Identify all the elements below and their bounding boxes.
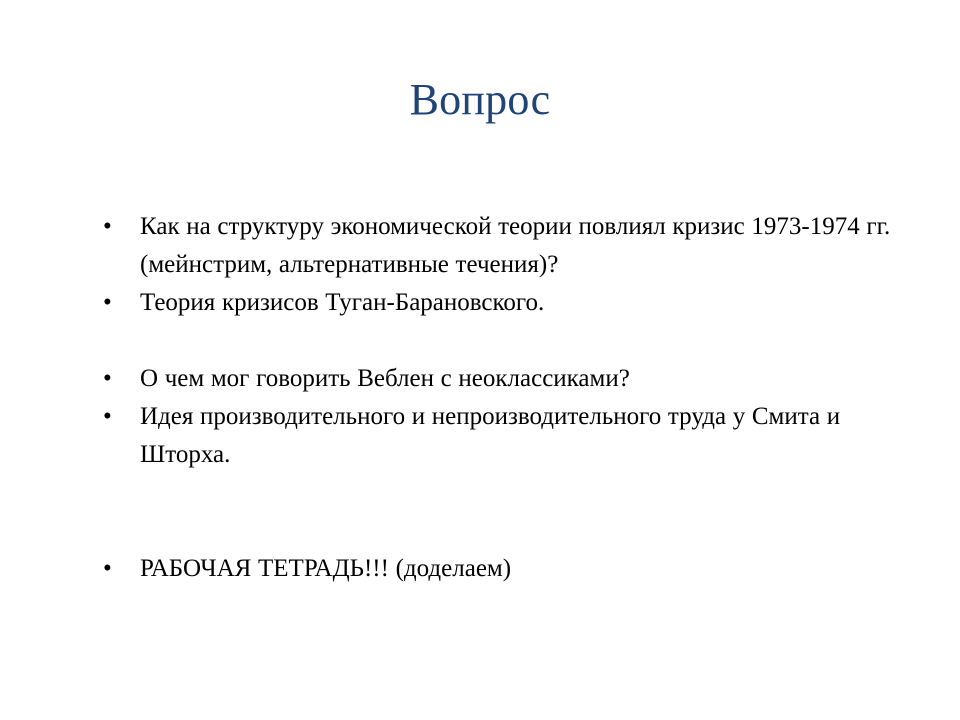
bullet-point-icon: • bbox=[96, 360, 140, 398]
slide-canvas: Вопрос • Как на структуру экономической … bbox=[0, 0, 960, 720]
list-item-text: О чем мог говорить Веблен с неоклассикам… bbox=[140, 360, 908, 398]
bullet-point-icon: • bbox=[96, 398, 140, 436]
slide-body-content: • Как на структуру экономической теории … bbox=[96, 208, 908, 588]
bullet-point-icon: • bbox=[96, 550, 140, 588]
list-item-text: Идея производительного и непроизводитель… bbox=[140, 398, 908, 474]
list-item: • РАБОЧАЯ ТЕТРАДЬ!!! (доделаем) bbox=[96, 550, 908, 588]
bullet-point-icon: • bbox=[96, 284, 140, 322]
list-item-text: Теория кризисов Туган-Барановского. bbox=[140, 284, 908, 322]
list-item: • Идея производительного и непроизводите… bbox=[96, 398, 908, 474]
blank-line-spacer bbox=[96, 322, 908, 360]
blank-line-spacer bbox=[96, 474, 908, 550]
list-item: • Как на структуру экономической теории … bbox=[96, 208, 908, 284]
list-item-text: РАБОЧАЯ ТЕТРАДЬ!!! (доделаем) bbox=[140, 550, 908, 588]
list-item-text: Как на структуру экономической теории по… bbox=[140, 208, 908, 284]
list-item: • О чем мог говорить Веблен с неоклассик… bbox=[96, 360, 908, 398]
list-item: • Теория кризисов Туган-Барановского. bbox=[96, 284, 908, 322]
page-title: Вопрос bbox=[60, 74, 900, 126]
bullet-point-icon: • bbox=[96, 208, 140, 246]
